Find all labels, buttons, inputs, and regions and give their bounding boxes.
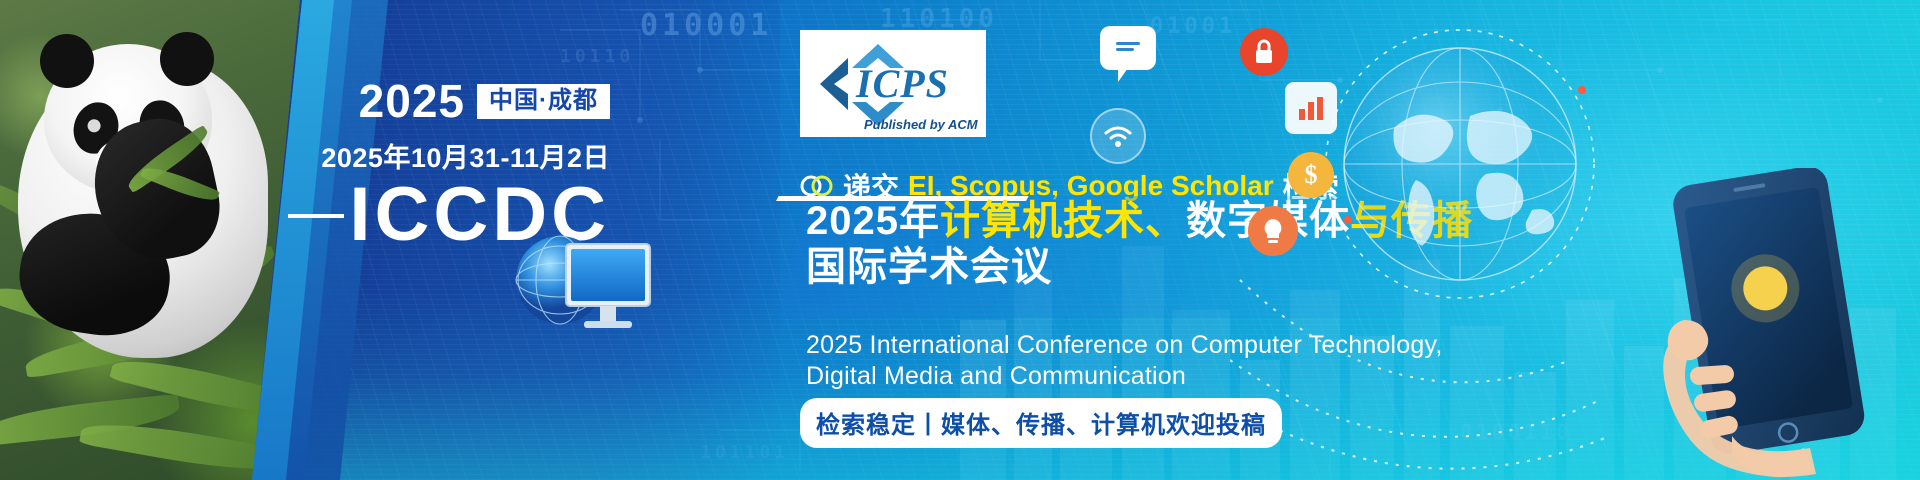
tagline-badge: 检索稳定丨媒体、传播、计算机欢迎投稿 <box>800 398 1282 448</box>
lightbulb-icon <box>1248 206 1298 256</box>
wifi-icon <box>1090 108 1146 164</box>
city-badge: 中国·成都 <box>477 84 610 119</box>
icps-wordmark: ICPS <box>856 60 949 107</box>
binary-text: 01001 <box>1150 14 1236 39</box>
binary-text: 10110 <box>560 46 634 67</box>
icps-publisher-label: Published by ACM <box>864 117 978 132</box>
chat-bubble-tail <box>1118 68 1128 82</box>
year-and-city-row: 2025 中国·成都 <box>300 78 610 124</box>
panda-ear-right <box>160 32 214 86</box>
dollar-coin-icon: $ <box>1288 152 1334 198</box>
binary-text: 010001 <box>640 8 772 43</box>
conference-banner: 010001 110100 01001 10110 0100110 101101 <box>0 0 1920 480</box>
chevron-left-icon <box>820 58 848 110</box>
monitor-globe-illustration <box>508 208 658 358</box>
lock-icon <box>1240 28 1288 76</box>
bar-chart-icon <box>1285 82 1337 134</box>
smartphone-in-hand-graphic <box>1640 168 1920 480</box>
title-year: 2025年 <box>806 199 940 243</box>
date-label: 2025年10月31-11月2日 <box>300 136 610 175</box>
panda-ear-left <box>40 34 94 88</box>
icps-logo: ICPS Published by ACM <box>800 30 986 137</box>
chat-bubble-icon <box>1100 26 1156 70</box>
year-label: 2025 <box>359 78 465 124</box>
title-topic-1: 计算机技术、 <box>940 199 1186 243</box>
binary-text: 101101 <box>700 442 789 463</box>
